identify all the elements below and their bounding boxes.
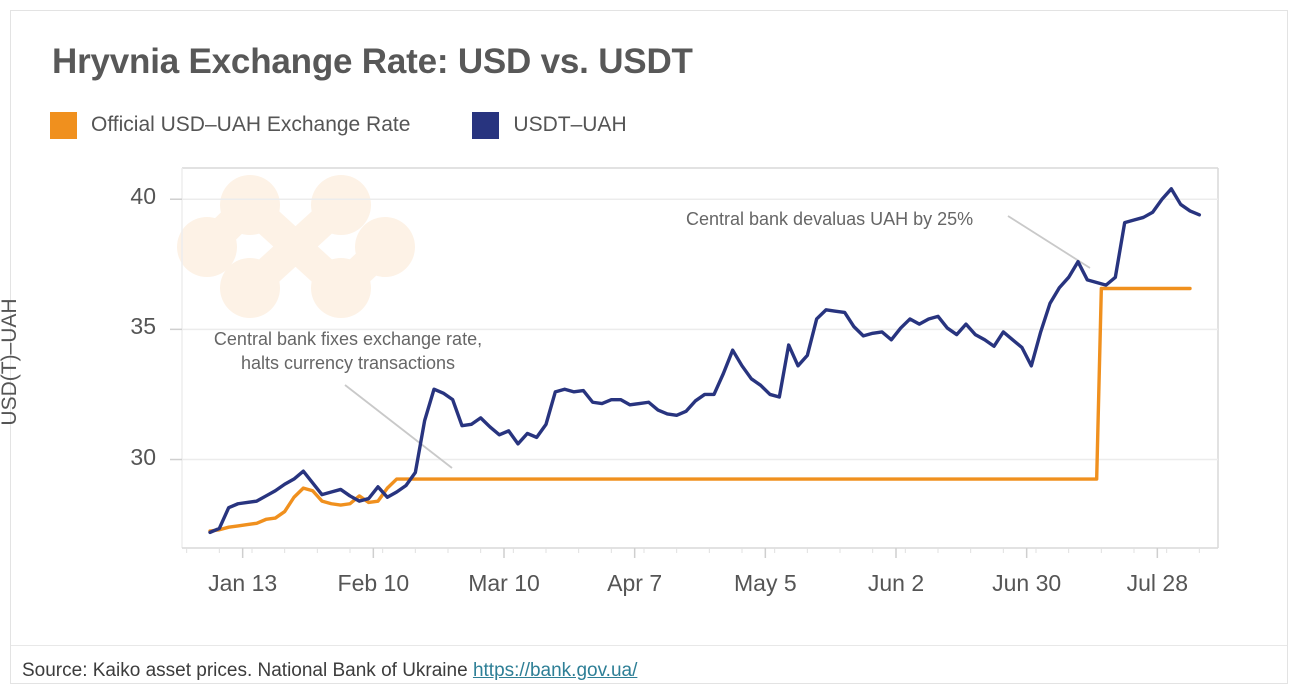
footer-divider [11,645,1287,646]
y-tick-label: 40 [130,183,156,210]
x-tick-label: Jun 2 [868,570,924,597]
x-tick-label: Jan 13 [208,570,277,597]
annotation-devaluation: Central bank devaluas UAH by 25% [686,208,973,232]
source-link[interactable]: https://bank.gov.ua/ [473,660,637,681]
annotation-fixes-rate: Central bank fixes exchange rate, halts … [198,328,498,376]
source-text: Source: Kaiko asset prices. National Ban… [22,660,473,681]
x-tick-label: Jul 28 [1127,570,1188,597]
plot-area: USD(T)–UAH 303540 Jan 13Feb 10Mar 10Apr … [0,0,1298,694]
chart-card: Hryvnia Exchange Rate: USD vs. USDT Offi… [0,0,1298,694]
x-tick-label: Jun 30 [992,570,1061,597]
kaiko-logo-watermark-icon [177,175,415,318]
x-tick-label: Apr 7 [607,570,662,597]
x-tick-label: Feb 10 [338,570,410,597]
y-tick-label: 30 [130,444,156,471]
x-tick-label: Mar 10 [468,570,540,597]
x-tick-label: May 5 [734,570,797,597]
y-axis-title: USD(T)–UAH [0,262,22,462]
annotation-leader-line [345,385,452,468]
source-note: Source: Kaiko asset prices. National Ban… [22,660,637,682]
y-tick-label: 35 [130,313,156,340]
